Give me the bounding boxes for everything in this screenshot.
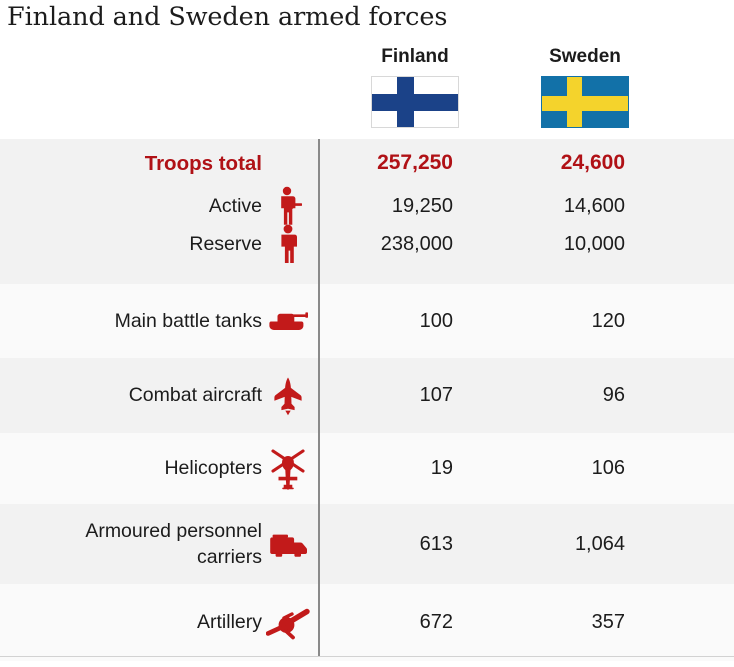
row-value-finland: 238,000 [318, 233, 453, 256]
row-label: Helicopters [164, 457, 262, 479]
finland-flag-cross-vertical [397, 77, 414, 127]
tank-icon [266, 299, 310, 343]
sweden-flag [541, 76, 629, 128]
row-label-cell: Troops total [0, 152, 318, 175]
band-spacer [0, 263, 734, 284]
row-label: Main battle tanks [115, 310, 262, 332]
helicopter-icon [266, 447, 310, 491]
row-label-cell: Reserve [0, 233, 318, 256]
table-row: Active 19,250 14,600 [0, 187, 734, 225]
row-label-cell: Main battle tanks [0, 310, 318, 333]
row-value-sweden: 106 [490, 457, 625, 480]
row-label-cell: Helicopters [0, 457, 318, 480]
finland-flag [371, 76, 459, 128]
row-label-cell: Combat aircraft [0, 384, 318, 407]
column-header-finland: Finland [330, 46, 500, 128]
row-label-cell: Artillery [0, 611, 318, 634]
row-value-finland: 107 [318, 384, 453, 407]
person-icon [266, 222, 310, 266]
column-header-sweden: Sweden [500, 46, 670, 128]
table-row: Artillery 672 [0, 584, 734, 661]
table-band-artillery: Artillery 672 [0, 584, 734, 661]
row-value-sweden: 24,600 [490, 151, 625, 175]
row-value-sweden: 357 [490, 611, 625, 634]
jet-icon [266, 374, 310, 418]
row-label-cell: Armoured personnel carriers [0, 518, 318, 570]
table-band-troops: Troops total 257,250 24,600 Active [0, 139, 734, 284]
row-value-finland: 672 [318, 611, 453, 634]
table-row: Main battle tanks 100 120 [0, 284, 734, 358]
row-value-sweden: 96 [490, 384, 625, 407]
row-value-finland: 613 [318, 533, 453, 556]
finland-flag-cross-horizontal [372, 94, 458, 111]
infographic-root: Finland and Sweden armed forces Finland … [0, 0, 734, 667]
bottom-rule [0, 656, 734, 657]
row-value-finland: 100 [318, 310, 453, 333]
artillery-icon [266, 601, 310, 645]
apc-icon [266, 522, 310, 566]
row-label: Reserve [189, 233, 262, 255]
table-band-tanks: Main battle tanks 100 120 [0, 284, 734, 358]
row-label: Combat aircraft [129, 384, 262, 406]
row-label: Armoured personnel carriers [57, 518, 262, 570]
table-row: Troops total 257,250 24,600 [0, 139, 734, 187]
row-value-finland: 19,250 [318, 195, 453, 218]
table-band-helicopters: Helicopters 19 [0, 433, 734, 504]
comparison-table: Troops total 257,250 24,600 Active [0, 139, 734, 661]
column-header-finland-label: Finland [330, 46, 500, 68]
row-value-finland: 257,250 [318, 151, 453, 175]
table-band-apc: Armoured personnel carriers 613 [0, 504, 734, 584]
row-value-sweden: 1,064 [490, 533, 625, 556]
row-label: Active [209, 195, 262, 217]
row-value-finland: 19 [318, 457, 453, 480]
row-label: Troops total [145, 152, 262, 175]
table-band-aircraft: Combat aircraft 107 96 [0, 358, 734, 433]
row-value-sweden: 120 [490, 310, 625, 333]
table-row: Combat aircraft 107 96 [0, 358, 734, 433]
row-value-sweden: 14,600 [490, 195, 625, 218]
page-title: Finland and Sweden armed forces [7, 0, 447, 34]
sweden-flag-cross-horizontal [542, 96, 628, 111]
table-row: Armoured personnel carriers 613 [0, 504, 734, 584]
row-label-cell: Active [0, 195, 318, 218]
column-divider [318, 139, 320, 657]
table-row: Reserve 238,000 10,000 [0, 225, 734, 263]
column-header-sweden-label: Sweden [500, 46, 670, 68]
row-value-sweden: 10,000 [490, 233, 625, 256]
table-row: Helicopters 19 [0, 433, 734, 504]
sweden-flag-cross-vertical [567, 77, 582, 127]
row-label: Artillery [197, 611, 262, 633]
